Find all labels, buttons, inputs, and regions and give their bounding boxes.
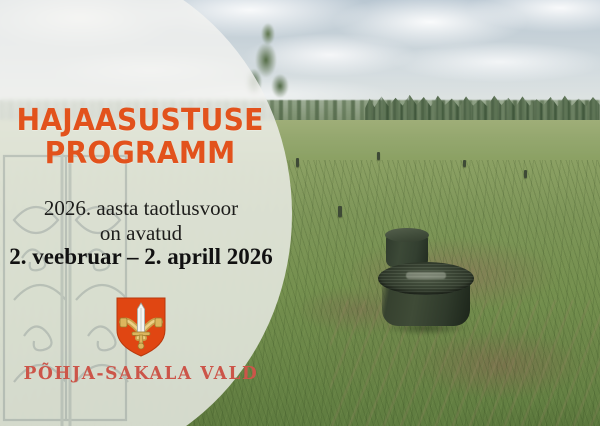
field-post	[463, 160, 466, 167]
coat-of-arms-icon	[115, 296, 167, 358]
field-post	[296, 158, 299, 167]
septic-tank-large	[378, 262, 474, 332]
application-period: 2. veebruar – 2. aprill 2026	[0, 244, 282, 270]
page-title: HAJAASUSTUSE PROGRAMM	[8, 104, 271, 170]
tank-lid	[378, 262, 474, 295]
municipality-wordmark: PÕHJA-SAKALA VALD	[0, 364, 282, 385]
field-post	[338, 206, 342, 217]
title-line-2: PROGRAMM	[8, 137, 271, 170]
field-post	[377, 152, 380, 160]
title-line-1: HAJAASUSTUSE	[16, 103, 263, 138]
announcement-line-1: 2026. aasta taotlusvoor	[0, 196, 282, 221]
poster-canvas: HAJAASUSTUSE PROGRAMM 2026. aasta taotlu…	[0, 0, 600, 426]
poster-content: HAJAASUSTUSE PROGRAMM 2026. aasta taotlu…	[0, 0, 292, 426]
municipality-logo: PÕHJA-SAKALA VALD	[0, 296, 282, 384]
riser-lid	[385, 228, 429, 242]
announcement-text: 2026. aasta taotlusvoor on avatud	[0, 196, 282, 246]
announcement-line-2: on avatud	[0, 221, 282, 246]
field-post	[524, 170, 527, 178]
